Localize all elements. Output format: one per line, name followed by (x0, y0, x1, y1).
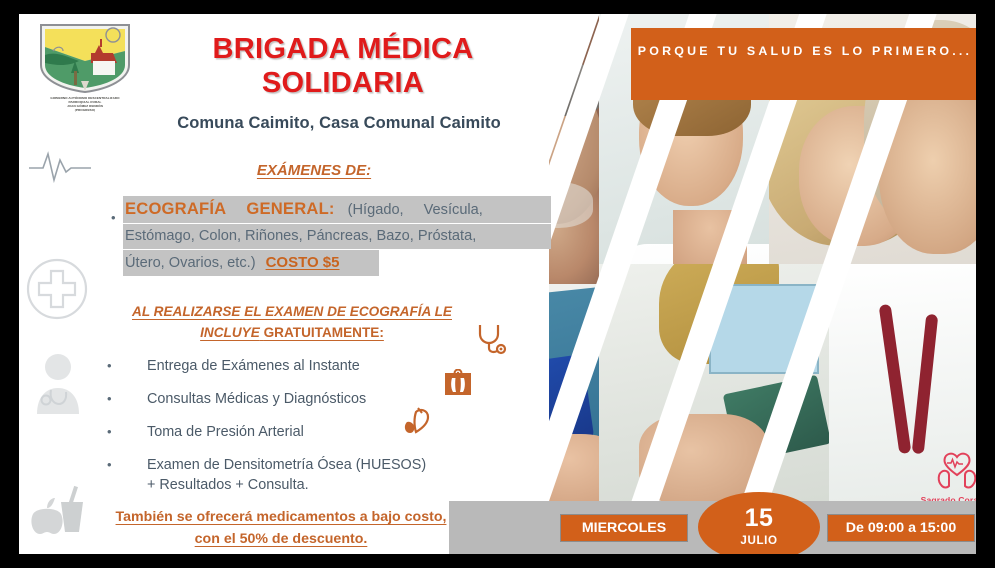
medical-cross-icon (25, 257, 89, 321)
doctor-icon (29, 350, 87, 416)
stethoscope-icon (474, 322, 508, 361)
discount-note-line-1: También se ofrecerá medicamentos a bajo … (116, 509, 447, 525)
schedule-day: MIERCOLES (560, 514, 688, 542)
headline-banner: PORQUE TU SALUD ES LO PRIMERO... (631, 28, 976, 100)
ecografia-cost: COSTO $5 (266, 254, 340, 271)
parish-logo: GOBIERNO AUTÓNOMO DESCENTRALIZADO PARROQ… (27, 21, 143, 112)
ecografia-title-2: GENERAL: (246, 199, 334, 218)
benefit-text-main: Examen de Densitometría Ósea (HUESOS) (147, 457, 426, 473)
free-services-line-2-italic: INCLUYE (200, 325, 260, 340)
schedule-month: JULIO (698, 534, 820, 547)
ecografia-line-3: Útero, Ovarios, etc.)COSTO $5 (123, 250, 379, 276)
schedule-date-badge: 15 JULIO (698, 492, 820, 554)
list-item: • Toma de Presión Arterial (107, 422, 507, 442)
bullet-marker: • (107, 389, 147, 409)
sponsor-logo: Sagrado Corazón (912, 451, 976, 505)
free-services-line-2-rest: GRATUITAMENTE: (264, 325, 384, 340)
ecografia-organs-2: Estómago, Colon, Riñones, Páncreas, Bazo… (123, 224, 551, 249)
benefit-text: Consultas Médicas y Diagnósticos (147, 389, 366, 409)
list-item: • Examen de Densitometría Ósea (HUESOS) … (107, 455, 507, 495)
schedule-date-number: 15 (698, 492, 820, 531)
ecografia-organs-3: Útero, Ovarios, etc.) (125, 255, 256, 271)
ecografia-block: ECOGRAFÍAGENERAL:(Hígado,Vesícula, Estóm… (123, 196, 551, 277)
benefit-text-sub: + Resultados + Consulta. (147, 475, 426, 495)
bullet-marker: • (107, 422, 147, 442)
benefit-text: Examen de Densitometría Ósea (HUESOS) + … (147, 455, 426, 495)
free-services-line-1: AL REALIZARSE EL EXAMEN DE ECOGRAFÍA LE (132, 304, 452, 319)
exams-heading: EXÁMENES DE: (129, 162, 499, 179)
bullet-marker: • (107, 356, 147, 376)
ecografia-organs-1: (Hígado, (348, 202, 404, 218)
free-services-heading: AL REALIZARSE EL EXAMEN DE ECOGRAFÍA LE … (97, 302, 487, 343)
bullet-marker: • (107, 455, 147, 475)
discount-note: También se ofrecerá medicamentos a bajo … (81, 506, 481, 550)
page-title: BRIGADA MÉDICASOLIDARIA (143, 32, 543, 100)
venue-subtitle: Comuna Caimito, Casa Comunal Caimito (129, 114, 549, 133)
discount-note-line-2: con el 50% de descuento. (195, 531, 368, 547)
ecografia-bullet: • (111, 210, 116, 225)
heartbeat-icon (27, 146, 93, 186)
bone-density-icon (444, 369, 472, 402)
ecografia-title: ECOGRAFÍA (125, 199, 226, 218)
benefit-text: Toma de Presión Arterial (147, 422, 304, 442)
heart-in-hands-icon (934, 451, 976, 491)
benefit-text: Entrega de Exámenes al Instante (147, 356, 360, 376)
coat-of-arms-icon (33, 21, 137, 95)
parish-logo-caption: GOBIERNO AUTÓNOMO DESCENTRALIZADO PARROQ… (27, 96, 143, 112)
content-column: GOBIERNO AUTÓNOMO DESCENTRALIZADO PARROQ… (19, 14, 549, 554)
poster-root: PORQUE TU SALUD ES LO PRIMERO... Sagrado… (0, 0, 995, 568)
blood-pressure-icon (402, 404, 434, 441)
schedule-bar: MIERCOLES 15 JULIO De 09:00 a 15:00 (449, 501, 976, 554)
ecografia-organs-1b: Vesícula, (424, 202, 483, 218)
poster-card: PORQUE TU SALUD ES LO PRIMERO... Sagrado… (19, 14, 976, 554)
schedule-hours: De 09:00 a 15:00 (827, 514, 975, 542)
ecografia-line-1: ECOGRAFÍAGENERAL:(Hígado,Vesícula, (123, 196, 551, 223)
